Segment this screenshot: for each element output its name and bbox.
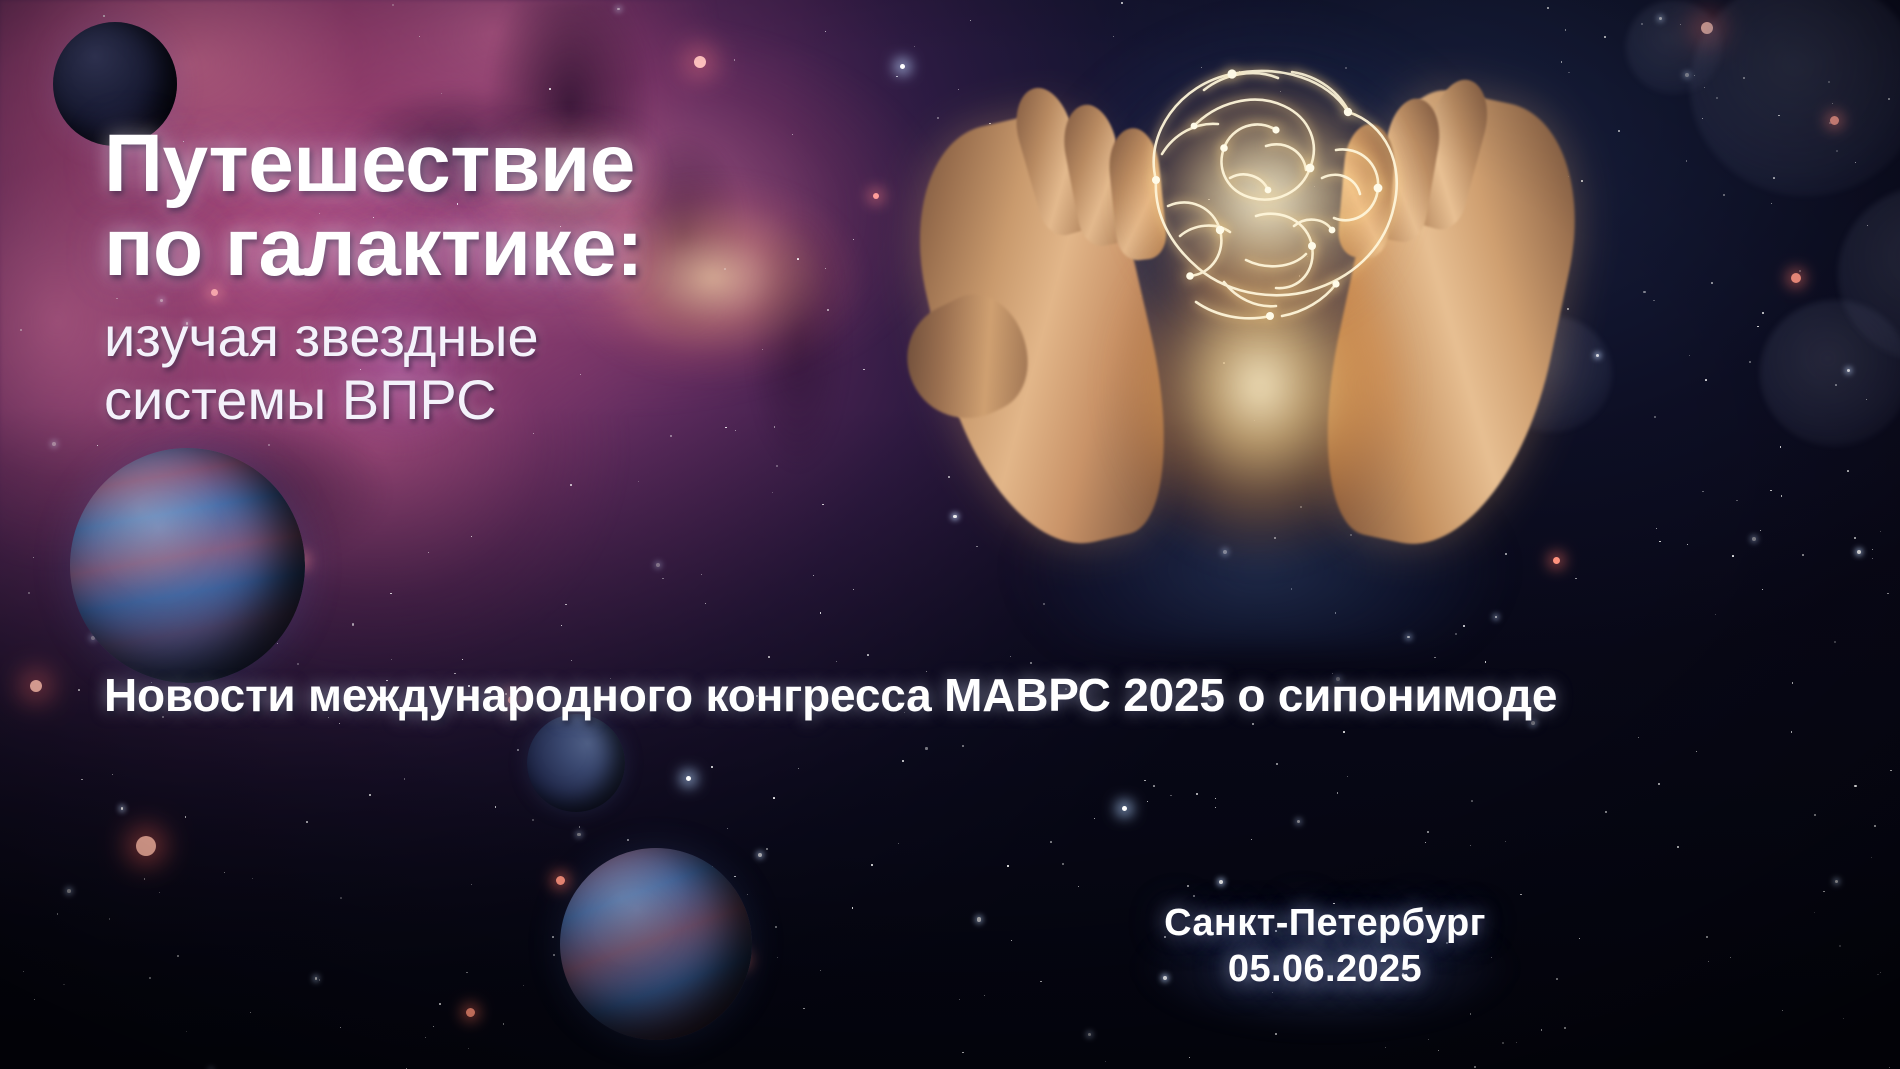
star <box>1857 550 1861 554</box>
star <box>52 442 56 446</box>
star <box>97 445 98 446</box>
star <box>768 656 770 658</box>
star <box>1425 842 1426 843</box>
star <box>103 15 105 17</box>
star <box>852 907 853 908</box>
star <box>1802 554 1804 556</box>
star <box>1889 1067 1890 1068</box>
star <box>1843 1018 1844 1019</box>
star <box>471 536 472 537</box>
star <box>1193 895 1195 897</box>
footer-date: 05.06.2025 <box>1090 946 1560 992</box>
star <box>570 484 572 486</box>
star <box>1736 500 1738 502</box>
star <box>1604 36 1606 38</box>
star <box>1760 530 1761 531</box>
star <box>1839 945 1841 947</box>
star <box>571 660 572 661</box>
star <box>1874 825 1876 827</box>
star <box>81 779 83 781</box>
star <box>466 972 468 974</box>
star <box>1702 491 1704 493</box>
star <box>1687 544 1688 545</box>
star <box>734 59 736 61</box>
red-giant-star <box>466 1008 475 1017</box>
star <box>523 985 524 986</box>
star <box>1343 731 1345 733</box>
star <box>149 977 151 979</box>
star <box>1215 807 1216 808</box>
star <box>962 1052 963 1053</box>
star <box>1094 818 1095 819</box>
star <box>1823 891 1824 892</box>
star <box>224 872 225 873</box>
star <box>1877 974 1879 976</box>
star <box>1780 446 1782 448</box>
star <box>1088 1033 1091 1036</box>
red-giant-star <box>556 876 565 885</box>
star <box>1847 470 1849 472</box>
star <box>1770 490 1772 492</box>
star <box>1880 531 1881 532</box>
star <box>577 833 581 837</box>
star <box>1502 1042 1504 1044</box>
star <box>734 876 736 878</box>
star <box>1428 1039 1429 1040</box>
star <box>1686 160 1688 162</box>
star <box>898 843 899 844</box>
star <box>425 1037 426 1038</box>
star <box>468 1048 469 1049</box>
star <box>1275 1033 1277 1035</box>
bokeh-circle <box>1690 0 1900 196</box>
star <box>1656 528 1657 529</box>
star <box>1872 558 1874 560</box>
star <box>1708 961 1709 962</box>
star <box>392 4 394 6</box>
star <box>1470 1013 1471 1014</box>
star <box>977 917 981 921</box>
star <box>277 643 278 644</box>
star <box>1871 857 1872 858</box>
star <box>1749 361 1751 363</box>
star <box>369 794 371 796</box>
star <box>1347 776 1348 777</box>
star <box>1732 555 1734 557</box>
star <box>112 774 114 776</box>
star <box>428 552 430 554</box>
star <box>1835 880 1838 883</box>
star <box>1147 801 1148 802</box>
star <box>1799 270 1801 272</box>
star <box>1505 841 1506 842</box>
star <box>1814 912 1816 914</box>
star <box>121 807 123 809</box>
red-giant-star <box>873 193 879 199</box>
star <box>1196 793 1198 795</box>
star <box>1252 723 1253 724</box>
star <box>250 1012 251 1013</box>
star <box>1007 865 1008 866</box>
star <box>1723 194 1725 196</box>
star <box>1434 657 1436 659</box>
star <box>517 749 519 751</box>
hands-holding-brain-photo <box>930 0 1590 640</box>
star <box>766 848 768 850</box>
star <box>1474 1066 1476 1068</box>
star <box>1872 549 1873 550</box>
news-headline: Новости международного конгресса МАВРС 2… <box>104 668 1864 722</box>
star <box>1771 203 1772 204</box>
star <box>268 444 270 446</box>
star <box>1170 795 1172 797</box>
star <box>836 661 837 662</box>
star <box>159 892 160 893</box>
star <box>1658 783 1660 785</box>
star <box>1010 656 1011 657</box>
star <box>552 936 554 938</box>
star <box>1187 885 1189 887</box>
star <box>1471 800 1473 802</box>
star <box>656 563 660 567</box>
star <box>1696 751 1697 752</box>
star <box>503 1023 504 1024</box>
page-title: Путешествие по галактике: <box>104 122 864 291</box>
star <box>962 745 964 747</box>
star <box>1757 326 1759 328</box>
red-giant-star <box>30 680 42 692</box>
star <box>1485 661 1487 663</box>
star <box>776 465 778 467</box>
star <box>896 76 898 78</box>
star <box>822 504 824 506</box>
star <box>533 433 534 434</box>
star <box>177 955 179 957</box>
star <box>495 806 496 807</box>
star <box>352 623 354 625</box>
star <box>391 659 392 660</box>
red-giant-star <box>694 56 706 68</box>
star <box>1078 886 1079 887</box>
star <box>441 93 443 95</box>
star <box>747 894 748 895</box>
star <box>1438 1050 1439 1051</box>
star <box>984 995 985 996</box>
star <box>185 816 187 818</box>
star <box>1880 972 1881 973</box>
star <box>914 46 915 47</box>
star <box>1781 495 1783 497</box>
bright-star <box>1122 806 1127 811</box>
star <box>773 797 775 799</box>
star <box>1040 981 1042 983</box>
star <box>1834 641 1836 643</box>
star <box>1251 839 1252 840</box>
star <box>78 689 80 691</box>
star <box>297 663 299 665</box>
star <box>758 853 762 857</box>
star <box>1144 780 1146 782</box>
star <box>553 954 555 956</box>
star <box>1638 737 1639 738</box>
star <box>186 1031 187 1032</box>
star <box>1337 792 1339 794</box>
star <box>867 654 869 656</box>
bright-star <box>686 776 691 781</box>
star <box>711 766 713 768</box>
star <box>1762 589 1763 590</box>
planet-blue-red-mid-left <box>70 448 305 683</box>
star <box>1814 814 1816 816</box>
page-subtitle: изучая звездные системы ВПРС <box>104 305 864 432</box>
star <box>1653 300 1655 302</box>
headline-block: Путешествие по галактике: изучая звездны… <box>104 122 864 431</box>
star <box>1659 541 1660 542</box>
star <box>820 612 821 613</box>
bokeh-circle <box>1626 0 1722 94</box>
star <box>306 821 308 823</box>
star <box>57 913 58 914</box>
star <box>1854 537 1856 539</box>
star <box>1705 379 1707 381</box>
star <box>433 1026 434 1027</box>
star <box>340 897 342 899</box>
star <box>144 878 146 880</box>
star <box>23 971 24 972</box>
star <box>109 918 111 920</box>
star <box>1643 291 1645 293</box>
star <box>1105 1061 1106 1062</box>
star <box>462 659 463 660</box>
star <box>627 839 629 841</box>
star <box>1791 731 1793 733</box>
star <box>803 1008 804 1009</box>
star <box>1890 770 1891 771</box>
star <box>662 578 663 579</box>
star <box>777 957 778 958</box>
star <box>252 878 253 879</box>
star <box>1689 355 1691 357</box>
star <box>1276 763 1278 765</box>
bright-star <box>900 64 905 69</box>
star <box>825 31 826 32</box>
star <box>853 589 854 590</box>
star <box>1520 894 1522 896</box>
star <box>532 819 534 821</box>
star <box>798 768 799 769</box>
star <box>34 999 35 1000</box>
footer-city: Санкт-Петербург <box>1090 900 1560 946</box>
star <box>617 8 619 10</box>
star <box>28 592 30 594</box>
star <box>1564 1027 1566 1029</box>
star <box>1153 785 1155 787</box>
star <box>959 999 960 1000</box>
red-giant-star <box>1791 273 1801 283</box>
star <box>1887 593 1888 594</box>
star <box>319 979 321 981</box>
star <box>1470 845 1471 846</box>
star <box>1677 846 1678 847</box>
star <box>1762 312 1764 314</box>
star <box>1706 936 1708 938</box>
star <box>871 864 873 866</box>
star <box>1011 940 1012 941</box>
star <box>925 747 927 749</box>
red-giant-star <box>136 836 156 856</box>
star <box>419 36 420 37</box>
star <box>813 575 814 576</box>
star <box>1516 1042 1517 1043</box>
star <box>1782 1010 1783 1011</box>
star <box>33 557 34 558</box>
glowing-neural-network-brain-icon <box>1096 30 1440 360</box>
star <box>1297 820 1300 823</box>
star <box>902 760 904 762</box>
star <box>1605 811 1606 812</box>
star <box>701 574 702 575</box>
footer-block: Санкт-Петербург 05.06.2025 <box>1090 900 1560 993</box>
star <box>339 723 340 724</box>
star <box>1618 130 1620 132</box>
star <box>1730 957 1731 958</box>
star <box>1541 1029 1543 1031</box>
star <box>565 604 566 605</box>
star <box>1219 880 1223 884</box>
bokeh-circle <box>1760 300 1900 446</box>
star <box>390 593 391 594</box>
star <box>1050 841 1052 843</box>
star <box>1062 863 1064 865</box>
star <box>1579 938 1580 939</box>
star <box>1427 831 1429 833</box>
star <box>820 970 821 971</box>
star <box>705 603 706 604</box>
star <box>439 1003 441 1005</box>
star <box>579 826 580 827</box>
star <box>638 481 639 482</box>
star <box>1711 282 1713 284</box>
star <box>404 778 405 779</box>
star <box>670 435 672 437</box>
star <box>1715 614 1716 615</box>
star <box>772 492 773 493</box>
star <box>1385 1047 1386 1048</box>
star <box>471 884 472 885</box>
star <box>561 625 562 626</box>
star <box>1654 416 1656 418</box>
star <box>315 977 317 979</box>
star <box>20 329 22 331</box>
star <box>549 88 551 90</box>
star <box>63 984 65 986</box>
star <box>67 889 71 893</box>
star <box>1030 662 1032 664</box>
star <box>1752 537 1756 541</box>
star <box>775 926 777 928</box>
planet-small-lower-middle <box>527 714 625 812</box>
presentation-slide: Путешествие по галактике: изучая звездны… <box>0 0 1900 1069</box>
planet-blue-red-bottom-middle <box>560 848 752 1040</box>
star <box>1854 785 1856 787</box>
star <box>1189 1057 1190 1058</box>
star <box>1215 798 1216 799</box>
star <box>340 1027 341 1028</box>
star <box>727 828 728 829</box>
